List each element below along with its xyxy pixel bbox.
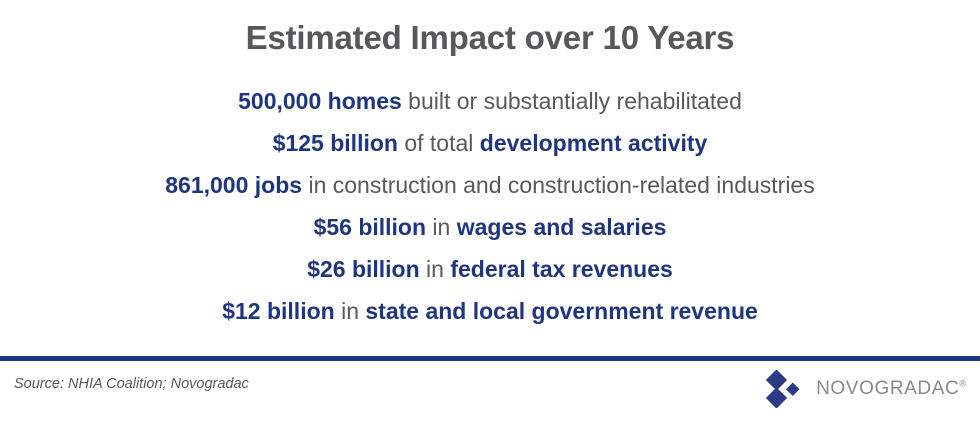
stat-highlight: wages and salaries <box>457 214 667 240</box>
registered-trademark-icon: ® <box>959 379 966 389</box>
novogradac-logo: NOVOGRADAC® <box>766 370 966 408</box>
stat-text: in construction and construction-related… <box>302 172 815 198</box>
stat-line: 861,000 jobs in construction and constru… <box>0 164 980 206</box>
stat-list: 500,000 homes built or substantially reh… <box>0 80 980 332</box>
stat-text: in <box>420 256 451 282</box>
stat-text: built or substantially rehabilitated <box>402 88 742 114</box>
stat-highlight: federal tax revenues <box>450 256 672 282</box>
stat-highlight: $125 billion <box>273 130 398 156</box>
stat-line: 500,000 homes built or substantially reh… <box>0 80 980 122</box>
stat-line: $125 billion of total development activi… <box>0 122 980 164</box>
infographic-root: Estimated Impact over 10 Years 500,000 h… <box>0 0 980 421</box>
stat-highlight: state and local government revenue <box>365 298 757 324</box>
stat-text: in <box>426 214 457 240</box>
diamonds-icon <box>766 370 808 408</box>
stat-highlight: 500,000 homes <box>238 88 402 114</box>
stat-highlight: $12 billion <box>222 298 334 324</box>
source-attribution: Source: NHIA Coalition; Novogradac <box>14 376 249 392</box>
stat-line: $56 billion in wages and salaries <box>0 206 980 248</box>
logo-wordmark: NOVOGRADAC® <box>816 378 966 400</box>
page-title: Estimated Impact over 10 Years <box>0 18 980 58</box>
stat-text: in <box>335 298 366 324</box>
stat-highlight: $26 billion <box>307 256 419 282</box>
footer-divider <box>0 356 980 361</box>
stat-line: $26 billion in federal tax revenues <box>0 248 980 290</box>
logo-wordmark-text: NOVOGRADAC <box>816 378 959 399</box>
stat-line: $12 billion in state and local governmen… <box>0 290 980 332</box>
stat-highlight: $56 billion <box>314 214 426 240</box>
stat-text: of total <box>398 130 480 156</box>
stat-highlight: development activity <box>480 130 708 156</box>
stat-highlight: 861,000 jobs <box>165 172 302 198</box>
